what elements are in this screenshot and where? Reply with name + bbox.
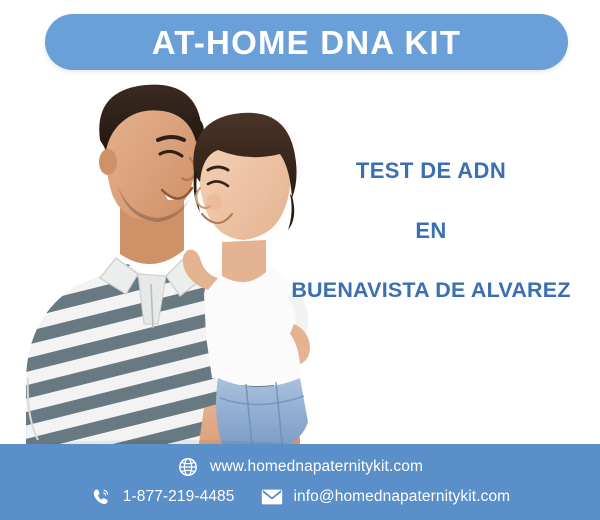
footer-row-website: www.homednapaternitykit.com [0, 456, 600, 478]
headline-line-3: BUENAVISTA DE ALVAREZ [262, 280, 600, 302]
headline-line-1: TEST DE ADN [262, 160, 600, 182]
envelope-icon [261, 486, 283, 508]
email-label: info@homednapaternitykit.com [294, 488, 511, 506]
title-banner-pill: AT-HOME DNA KIT [45, 14, 568, 70]
footer-row-phone-email: 1-877-219-4485 info@homednapaternitykit.… [0, 486, 600, 508]
poster-canvas: AT-HOME DNA KIT [0, 0, 600, 520]
website-contact-item[interactable]: www.homednapaternitykit.com [177, 456, 423, 478]
website-label: www.homednapaternitykit.com [210, 458, 423, 476]
phone-contact-item[interactable]: 1-877-219-4485 [90, 486, 235, 508]
banner-title-text: AT-HOME DNA KIT [152, 26, 461, 59]
headline-block: TEST DE ADN EN BUENAVISTA DE ALVAREZ [262, 160, 600, 302]
phone-icon [90, 486, 112, 508]
phone-label: 1-877-219-4485 [123, 488, 235, 506]
contact-footer: www.homednapaternitykit.com 1-877-219-44… [0, 444, 600, 520]
globe-icon [177, 456, 199, 478]
headline-line-2: EN [262, 220, 600, 242]
email-contact-item[interactable]: info@homednapaternitykit.com [261, 486, 511, 508]
